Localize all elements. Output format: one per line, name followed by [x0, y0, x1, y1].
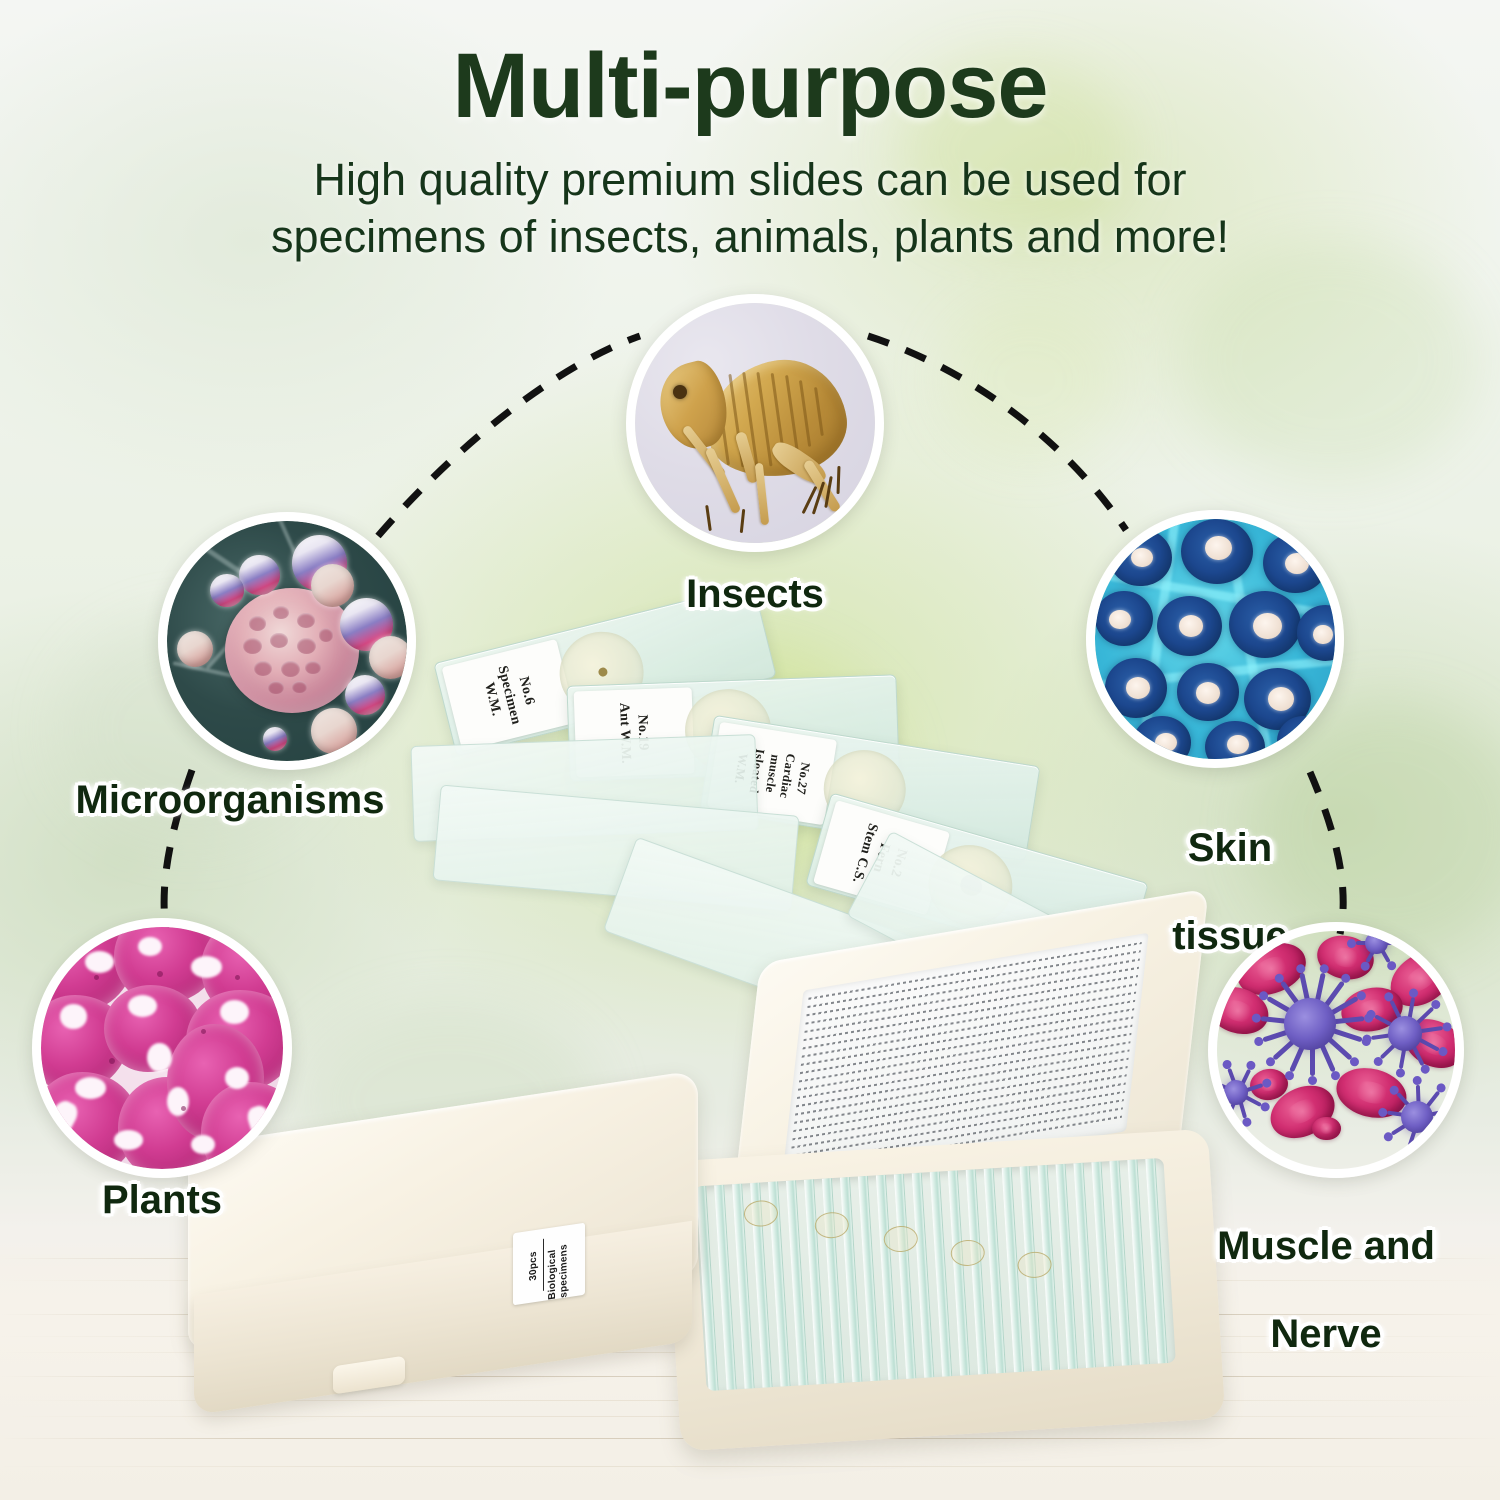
microorganism-cell-body: [225, 588, 359, 713]
muscle-nerve-caption: Muscle and Nerve: [1176, 1180, 1476, 1400]
slide-label: No.6 Specimen W.M.: [442, 639, 577, 751]
plants-circle[interactable]: [32, 918, 292, 1178]
open-slide-box[interactable]: [672, 930, 1232, 1450]
slide-stack: [694, 1158, 1176, 1391]
subtitle-line-2: specimens of insects, animals, plants an…: [0, 208, 1500, 266]
header-block: Multi-purpose High quality premium slide…: [0, 38, 1500, 266]
microorganisms-caption: Microorganisms: [60, 778, 400, 822]
plants-caption: Plants: [62, 1178, 262, 1222]
virus-particle: [1269, 983, 1350, 1064]
virus-particle: [1355, 931, 1398, 964]
box-label-count: 30pcs: [528, 1251, 540, 1282]
insects-circle[interactable]: [626, 294, 884, 552]
virus-particle: [1374, 1002, 1436, 1064]
flea-eye: [673, 385, 687, 399]
muscle-nerve-circle[interactable]: [1208, 922, 1464, 1178]
skin-tissue-circle[interactable]: [1086, 510, 1344, 768]
subtitle-line-1: High quality premium slides can be used …: [0, 151, 1500, 209]
box-label-product: Biological specimens: [547, 1225, 570, 1300]
box-product-label: 30pcs Biological specimens: [513, 1223, 585, 1306]
infographic-canvas: Multi-purpose High quality premium slide…: [0, 0, 1500, 1500]
insects-caption: Insects: [625, 572, 885, 616]
microorganisms-circle[interactable]: [158, 512, 416, 770]
virus-particle: [1388, 1088, 1445, 1145]
box-label-divider: [543, 1239, 544, 1291]
page-title: Multi-purpose: [0, 38, 1500, 135]
page-subtitle: High quality premium slides can be used …: [0, 151, 1500, 266]
virus-particle: [1217, 1069, 1260, 1117]
